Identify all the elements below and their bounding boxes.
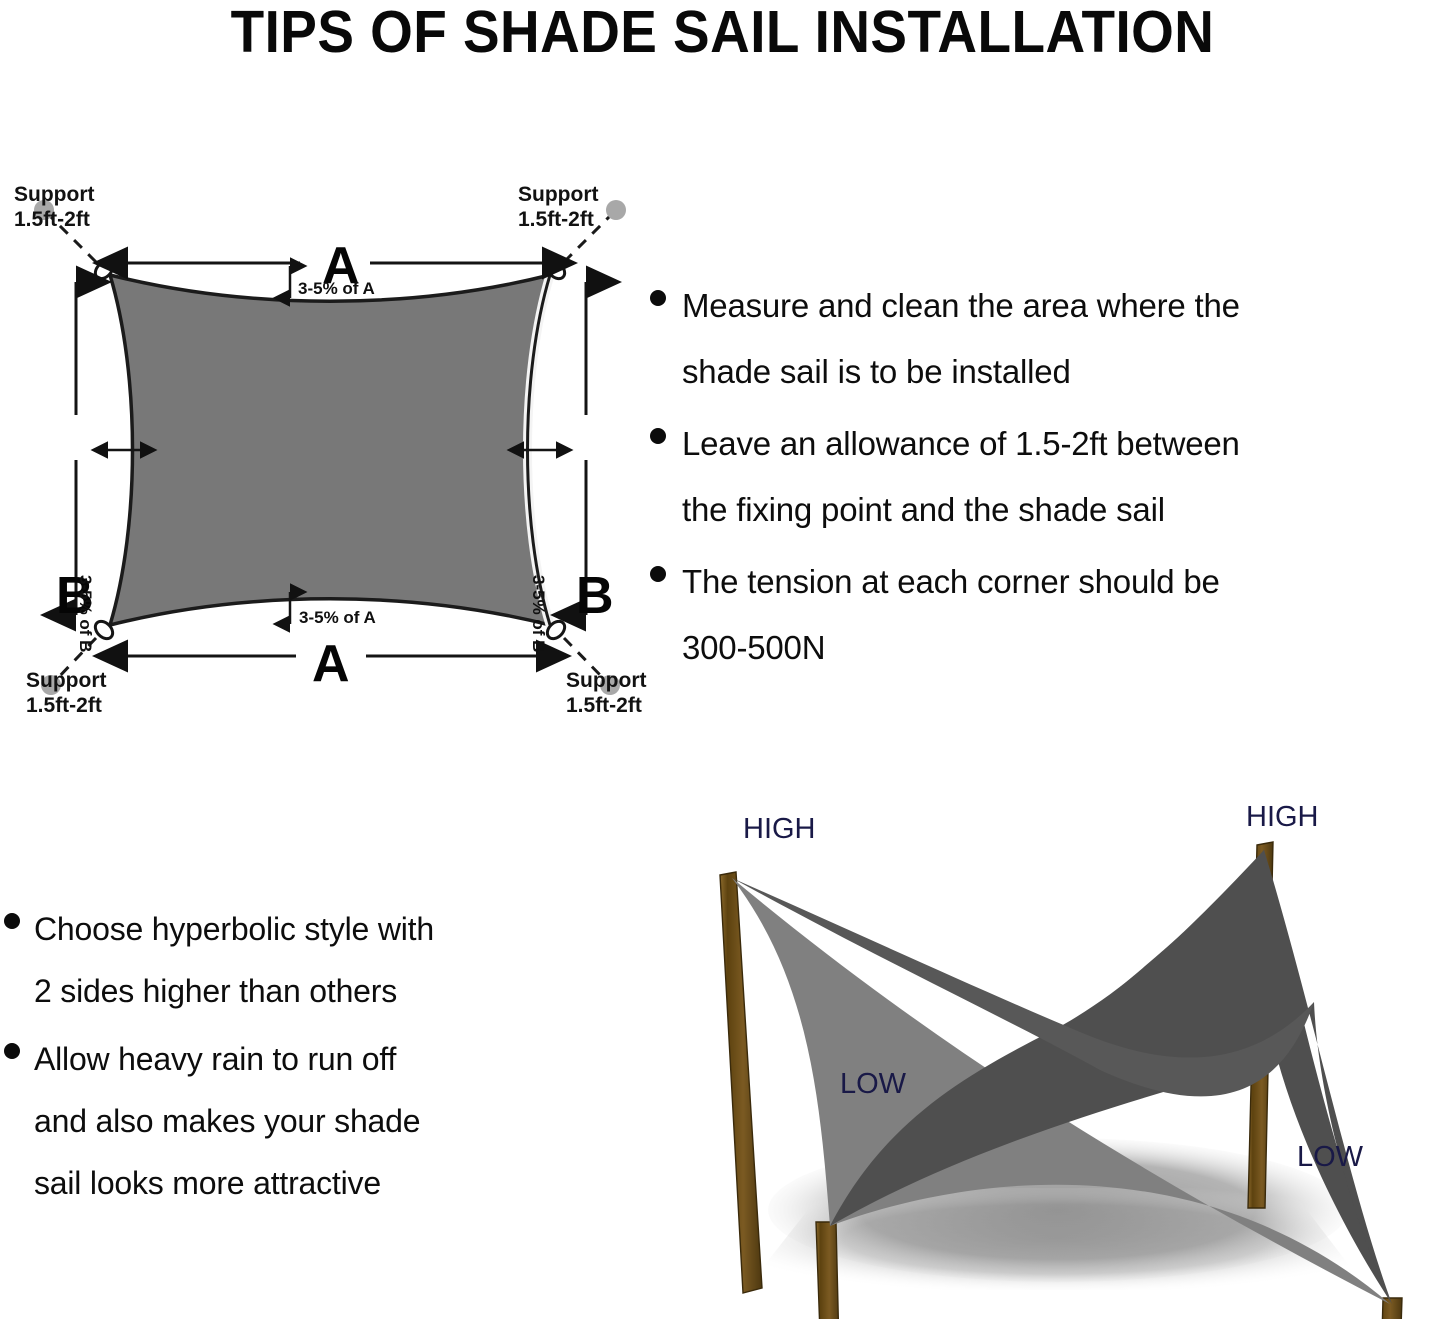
bullet-dot-icon bbox=[650, 566, 666, 582]
support-label-line1: Support bbox=[26, 668, 106, 693]
curvature-note-left: 3-5% of B bbox=[75, 575, 95, 652]
post-high-left bbox=[720, 872, 762, 1293]
tip-line: The tension at each corner should be bbox=[682, 563, 1220, 600]
style-tip-item: Allow heavy rain to run off and also mak… bbox=[4, 1028, 629, 1214]
bullet-dot-icon bbox=[650, 290, 666, 306]
post-low-right bbox=[1376, 1298, 1402, 1319]
tip-item-text: Measure and clean the area where the sha… bbox=[682, 273, 1240, 405]
installation-tips-list: Measure and clean the area where the sha… bbox=[650, 273, 1445, 687]
bullet-dot-icon bbox=[4, 1043, 20, 1059]
style-tip-line: sail looks more attractive bbox=[34, 1165, 381, 1201]
support-label-top-left: Support 1.5ft-2ft bbox=[14, 182, 94, 232]
curvature-note-top: 3-5% of A bbox=[298, 279, 375, 299]
tip-item-text: Leave an allowance of 1.5-2ft between th… bbox=[682, 411, 1240, 543]
style-tip-line: and also makes your shade bbox=[34, 1103, 420, 1139]
hyperbolic-style-tips-list: Choose hyperbolic style with 2 sides hig… bbox=[4, 898, 629, 1220]
tip-line: shade sail is to be installed bbox=[682, 353, 1071, 390]
tip-line: the fixing point and the shade sail bbox=[682, 491, 1165, 528]
style-tip-line: Allow heavy rain to run off bbox=[34, 1041, 396, 1077]
support-label-line1: Support bbox=[518, 182, 598, 207]
bullet-dot-icon bbox=[650, 428, 666, 444]
dimension-letter-b-right: B bbox=[576, 570, 614, 622]
tip-item: The tension at each corner should be 300… bbox=[650, 549, 1445, 681]
label-high-left: HIGH bbox=[743, 815, 816, 844]
label-low-right: LOW bbox=[1297, 1143, 1363, 1172]
post-low-left bbox=[816, 1222, 840, 1319]
tip-line: Leave an allowance of 1.5-2ft between bbox=[682, 425, 1240, 462]
support-label-line2: 1.5ft-2ft bbox=[26, 693, 106, 718]
sail-body bbox=[110, 275, 550, 625]
label-high-right: HIGH bbox=[1246, 803, 1319, 832]
support-label-line1: Support bbox=[14, 182, 94, 207]
tip-line: Measure and clean the area where the bbox=[682, 287, 1240, 324]
label-low-left: LOW bbox=[840, 1070, 906, 1099]
support-label-bottom-right: Support 1.5ft-2ft bbox=[566, 668, 646, 718]
page-title: TIPS OF SHADE SAIL INSTALLATION bbox=[51, 0, 1395, 64]
style-tip-line: Choose hyperbolic style with bbox=[34, 911, 434, 947]
support-label-line1: Support bbox=[566, 668, 646, 693]
curvature-note-bottom: 3-5% of A bbox=[299, 608, 376, 628]
support-label-line2: 1.5ft-2ft bbox=[518, 207, 598, 232]
curvature-note-right: 3-5% of B bbox=[528, 575, 548, 652]
support-label-top-right: Support 1.5ft-2ft bbox=[518, 182, 598, 232]
bullet-dot-icon bbox=[4, 913, 20, 929]
support-label-line2: 1.5ft-2ft bbox=[566, 693, 646, 718]
tip-line: 300-500N bbox=[682, 629, 825, 666]
style-tip-item-text: Allow heavy rain to run off and also mak… bbox=[34, 1028, 420, 1214]
style-tip-item: Choose hyperbolic style with 2 sides hig… bbox=[4, 898, 629, 1022]
tip-item-text: The tension at each corner should be 300… bbox=[682, 549, 1220, 681]
style-tip-line: 2 sides higher than others bbox=[34, 973, 397, 1009]
tip-item: Measure and clean the area where the sha… bbox=[650, 273, 1445, 405]
support-label-line2: 1.5ft-2ft bbox=[14, 207, 94, 232]
tip-item: Leave an allowance of 1.5-2ft between th… bbox=[650, 411, 1445, 543]
style-tip-item-text: Choose hyperbolic style with 2 sides hig… bbox=[34, 898, 434, 1022]
hyperbolic-sail-diagram: HIGH HIGH LOW LOW bbox=[650, 770, 1445, 1319]
support-dot bbox=[606, 200, 626, 220]
hyperbolic-sail-svg bbox=[650, 770, 1445, 1319]
support-label-bottom-left: Support 1.5ft-2ft bbox=[26, 668, 106, 718]
rectangular-sail-diagram: Support 1.5ft-2ft Support 1.5ft-2ft Supp… bbox=[0, 160, 660, 730]
dimension-letter-a-bottom: A bbox=[312, 638, 350, 690]
